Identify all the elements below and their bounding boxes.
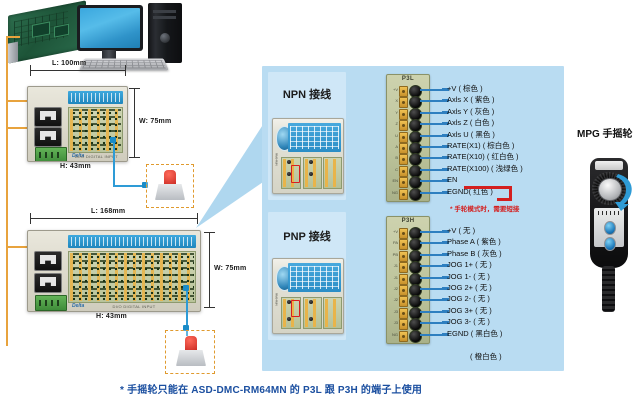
pin-label: JOG 2- ( 无 ) [447, 295, 490, 303]
pin-leader-line [420, 146, 442, 148]
pin-label: +V ( 棕色 ) [447, 85, 483, 93]
optical-drive [153, 16, 176, 19]
p3h-extra-label: ( 橙白色 ) [470, 353, 502, 361]
bus-line-to-upper-module [6, 100, 28, 102]
dimension-length-upper: L: 100mm [52, 60, 86, 67]
pin-label: Axls Z ( 白色 ) [447, 119, 494, 127]
terminal-screw [399, 177, 408, 188]
terminal-screw [399, 109, 408, 120]
pin-leader-line [420, 100, 442, 102]
npn-title: NPN 接线 [268, 86, 346, 102]
terminal-screw [399, 262, 408, 273]
rj45-port [34, 127, 62, 147]
pin-label: JOG 2+ ( 无 ) [447, 284, 492, 292]
footer-caption: * 手摇轮只能在 ASD-DMC-RM64MN 的 P3L 跟 P3H 的端子上… [120, 381, 422, 396]
dimension-length-lower: L: 168mm [91, 208, 125, 215]
pin-tag: EN [389, 178, 398, 183]
dimension-height-upper: H: 43mm [60, 163, 91, 170]
pin-tag: PA [389, 240, 398, 245]
pin-tag: J3 [389, 320, 398, 325]
zoom-callout-wedge [196, 120, 266, 250]
dimension-line-length-lower [30, 218, 198, 219]
pin-tag: +V [389, 87, 398, 92]
pin-tag: +V [389, 229, 398, 234]
signal-wire [113, 140, 115, 186]
dimension-cap [125, 65, 126, 76]
pin-leader-line [420, 180, 442, 182]
power-terminal [35, 147, 67, 162]
dimension-line-length-upper [30, 70, 126, 71]
pin-label: Axls U ( 黑色 ) [447, 131, 495, 139]
pnp-board-photo: RM64MN [272, 258, 344, 334]
pin-tag: J1 [389, 275, 398, 280]
terminal-bank [68, 251, 196, 303]
mpg-cable [602, 266, 615, 312]
keyboard [79, 58, 169, 70]
io-module-lower: Delta DI/O DIGITAL INPUT [27, 230, 201, 312]
pin-leader-line [420, 242, 442, 244]
short-bracket-bottom [497, 198, 512, 201]
pin-label: +V ( 无 ) [447, 227, 475, 235]
terminal-screw [399, 143, 408, 154]
terminal-hole [287, 317, 291, 321]
pin-tag: Z [389, 121, 398, 126]
pin-tag: A [389, 144, 398, 149]
rate-selector-knob [604, 237, 616, 251]
terminal-extra [323, 157, 342, 189]
bus-line-to-lower-module [6, 246, 28, 248]
pin-leader-line [420, 265, 442, 267]
terminal-hole [409, 330, 422, 343]
module-board-text: DI/O DIGITAL INPUT [68, 304, 200, 309]
bus-line-to-upper-module [6, 127, 28, 129]
power-button-icon [160, 33, 170, 43]
dimension-cap [204, 307, 215, 308]
pin-tag: X [389, 98, 398, 103]
module-board-text: DI/O DIGITAL INPUT [66, 154, 127, 159]
terminal-screw [399, 251, 408, 262]
terminal-screw [399, 274, 408, 285]
terminal-screw [399, 296, 408, 307]
pin-tag: U [389, 133, 398, 138]
pin-tag: Y [389, 110, 398, 115]
mpg-title: MPG 手摇轮 [577, 125, 633, 140]
pin-label: JOG 3- ( 无 ) [447, 318, 490, 326]
terminal-screw [399, 319, 408, 330]
terminal-screw [399, 239, 408, 250]
pin-leader-line [420, 277, 442, 279]
connector-title-p3l: P3L [387, 76, 429, 82]
terminal-screw [399, 228, 408, 239]
jumper-highlight [291, 300, 301, 317]
module-blue-header [68, 91, 123, 104]
dimension-line-width-upper [134, 88, 135, 158]
module-blue-header [68, 235, 196, 248]
terminal-screw [399, 189, 408, 200]
pin-label: Axls X ( 紫色 ) [447, 96, 495, 104]
terminal-hole [409, 188, 422, 201]
pin-leader-line [420, 334, 442, 336]
board-dip-area [288, 263, 341, 293]
pin-tag: B [389, 155, 398, 160]
bus-line-vertical [6, 36, 8, 346]
pin-label: Phase A ( 紫色 ) [447, 238, 501, 246]
bus-line-to-pci [6, 36, 20, 38]
dimension-width-upper: W: 75mm [139, 118, 171, 125]
lcd-monitor [77, 5, 143, 51]
pnp-title: PNP 接线 [268, 228, 346, 244]
pin-leader-line [420, 311, 442, 313]
pin-leader-line [420, 231, 442, 233]
pin-leader-line [420, 322, 442, 324]
dimension-width-lower: W: 75mm [214, 265, 246, 272]
pin-leader-line [420, 135, 442, 137]
terminal-extra [323, 297, 342, 329]
pin-label: JOG 1+ ( 无 ) [447, 261, 492, 269]
terminal-screw [399, 97, 408, 108]
rj45-port [34, 107, 62, 127]
pin-leader-line [420, 169, 442, 171]
dimension-cap [129, 88, 140, 89]
board-dip-area [288, 123, 341, 153]
pin-label: Phase B ( 灰色 ) [447, 250, 502, 258]
pin-tag: PB [389, 252, 398, 257]
estop-base [176, 350, 206, 367]
terminal-screw [399, 86, 408, 97]
board-model-text: RM64MN [274, 293, 279, 330]
connector-block-p3l: P3L +VXYZUABCENNG [386, 74, 430, 202]
pin-leader-line [420, 157, 442, 159]
terminal-screw [399, 285, 408, 296]
pin-label: EGND ( 黑白色 ) [447, 330, 502, 338]
pc-tower [148, 3, 182, 63]
pin-tag: J3 [389, 309, 398, 314]
terminal-screw [399, 308, 408, 319]
rotation-arrow-icon [612, 168, 638, 212]
connector-title-p3h: P3H [387, 218, 429, 224]
emergency-stop-button [176, 336, 206, 366]
pin-tag: J2 [389, 297, 398, 302]
pin-label: EN [447, 176, 457, 184]
pin-leader-line [420, 89, 442, 91]
short-note: * 手轮模式时，需要短接 [450, 203, 519, 213]
wire-node [110, 137, 116, 143]
dimension-cap [30, 65, 31, 76]
rj45-port [34, 273, 62, 293]
wire-node [183, 285, 189, 291]
dimension-cap [30, 213, 31, 224]
pin-label: RATE(X10) ( 红白色 ) [447, 153, 519, 161]
npn-board-photo: RM64MN [272, 118, 344, 194]
pin-label: JOG 1- ( 无 ) [447, 273, 490, 281]
pin-tag: NG [389, 190, 398, 195]
pin-label: Axls Y ( 灰色 ) [447, 108, 494, 116]
optical-drive [153, 10, 176, 13]
pin-leader-line [420, 299, 442, 301]
pin-leader-line [420, 123, 442, 125]
pin-leader-line [420, 254, 442, 256]
pin-label: JOG 3+ ( 无 ) [447, 307, 492, 315]
terminal-screw [399, 166, 408, 177]
pci-bracket [8, 42, 18, 64]
signal-wire [113, 185, 145, 187]
connector-block-p3h: P3H +VPAPBJ1J1J2J2J3J3NG [386, 216, 430, 344]
pin-leader-line [420, 192, 442, 194]
pci-chip [32, 21, 50, 37]
terminal-screw [399, 154, 408, 165]
rj45-port [34, 251, 62, 271]
pci-chip [54, 24, 69, 38]
estop-base [155, 184, 185, 201]
dimension-height-lower: H: 43mm [96, 313, 127, 320]
board-model-text: RM64MN [274, 153, 279, 190]
pin-tag: J1 [389, 263, 398, 268]
emergency-stop-button [155, 170, 185, 200]
pin-leader-line [420, 288, 442, 290]
pin-label: RATE(X100) ( 浅绿色 ) [447, 165, 523, 173]
pin-tag: C [389, 167, 398, 172]
pin-tag: NG [389, 332, 398, 337]
power-terminal [35, 295, 67, 311]
pin-leader-line [420, 112, 442, 114]
pin-label: RATE(X1) ( 棕白色 ) [447, 142, 514, 150]
short-bracket-top [464, 186, 512, 189]
terminal-screw [399, 132, 408, 143]
jumper-highlight [291, 165, 301, 183]
terminal-screw [399, 120, 408, 131]
monitor-screen [80, 8, 140, 48]
dimension-cap [129, 157, 140, 158]
pci-card [8, 0, 86, 63]
terminal-screw [399, 331, 408, 342]
pin-tag: J2 [389, 286, 398, 291]
axis-selector-knob [604, 221, 616, 235]
